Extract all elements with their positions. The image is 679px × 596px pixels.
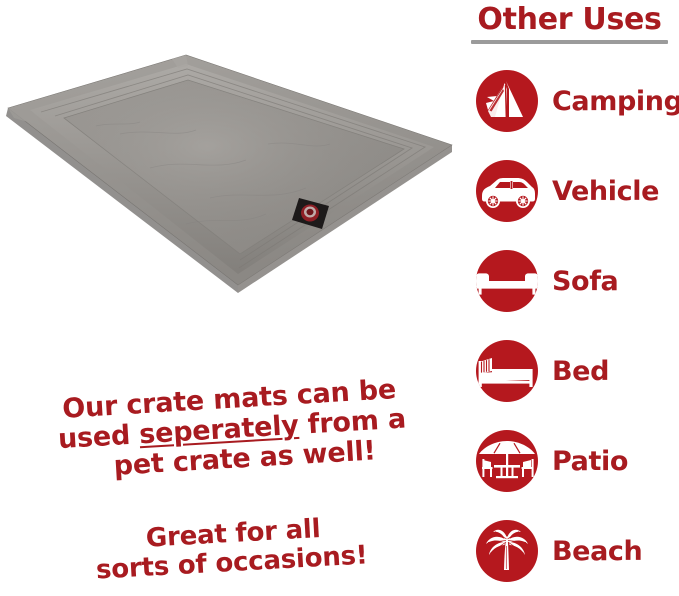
use-label-sofa: Sofa <box>552 266 618 297</box>
copy-line-2-after: from a <box>298 404 407 441</box>
secondary-marketing-copy: Great for all sorts of occasions! <box>55 510 408 588</box>
tent-icon <box>476 70 538 132</box>
palm-tree-icon-glyph <box>476 520 538 582</box>
crate-mat-illustration <box>0 48 460 303</box>
other-uses-list: Camping <box>460 56 679 596</box>
title-divider <box>471 40 668 44</box>
use-item-patio: Patio <box>460 416 679 506</box>
use-label-camping: Camping <box>552 86 679 117</box>
use-item-camping: Camping <box>460 56 679 146</box>
bed-icon-glyph <box>476 340 538 402</box>
use-label-bed: Bed <box>552 356 609 387</box>
product-panel: Our crate mats can be used seperately fr… <box>0 0 460 593</box>
use-item-bed: Bed <box>460 326 679 416</box>
use-item-vehicle: Vehicle <box>460 146 679 236</box>
other-uses-title: Other Uses <box>460 2 679 37</box>
use-label-patio: Patio <box>552 446 628 477</box>
sofa-icon <box>476 250 538 312</box>
sofa-icon-glyph <box>476 250 538 312</box>
palm-tree-icon <box>476 520 538 582</box>
vehicle-icon-glyph <box>476 160 538 222</box>
tent-icon-glyph <box>476 70 538 132</box>
use-item-beach: Beach <box>460 506 679 596</box>
patio-icon-glyph <box>476 430 538 492</box>
use-label-vehicle: Vehicle <box>552 176 659 207</box>
vehicle-icon <box>476 160 538 222</box>
use-item-sofa: Sofa <box>460 236 679 326</box>
crate-mat-product-image <box>0 48 460 303</box>
other-uses-panel: Other Uses Camping <box>460 0 679 593</box>
bed-icon <box>476 340 538 402</box>
primary-marketing-copy: Our crate mats can be used seperately fr… <box>20 373 439 488</box>
patio-icon <box>476 430 538 492</box>
use-label-beach: Beach <box>552 536 642 567</box>
